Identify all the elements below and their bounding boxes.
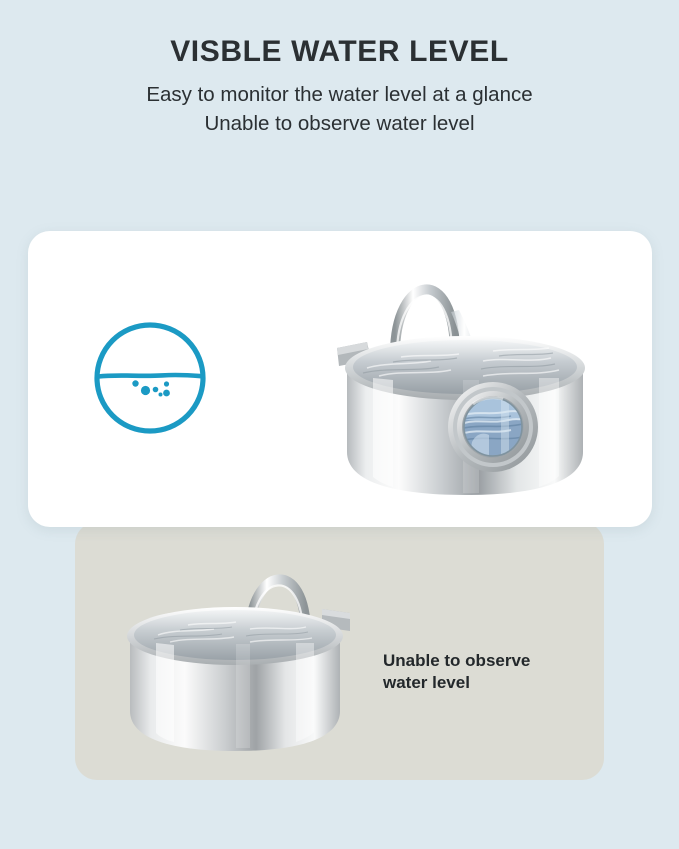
bad-caption-line-2: water level bbox=[383, 672, 593, 694]
page-title: VISBLE WATER LEVEL bbox=[0, 0, 679, 70]
subtitle-line-1: Easy to monitor the water level at a gla… bbox=[0, 70, 679, 109]
product-fountain-no-window bbox=[100, 543, 368, 769]
subtitle-line-2: Unable to observe water level bbox=[0, 109, 679, 138]
bad-caption-line-1: Unable to observe bbox=[383, 650, 593, 672]
header: VISBLE WATER LEVEL Easy to monitor the w… bbox=[0, 0, 679, 138]
bad-caption: Unable to observe water level bbox=[383, 650, 593, 695]
product-fountain-with-window bbox=[333, 252, 605, 507]
water-level-window bbox=[448, 382, 538, 472]
water-level-circle-icon bbox=[88, 316, 212, 440]
